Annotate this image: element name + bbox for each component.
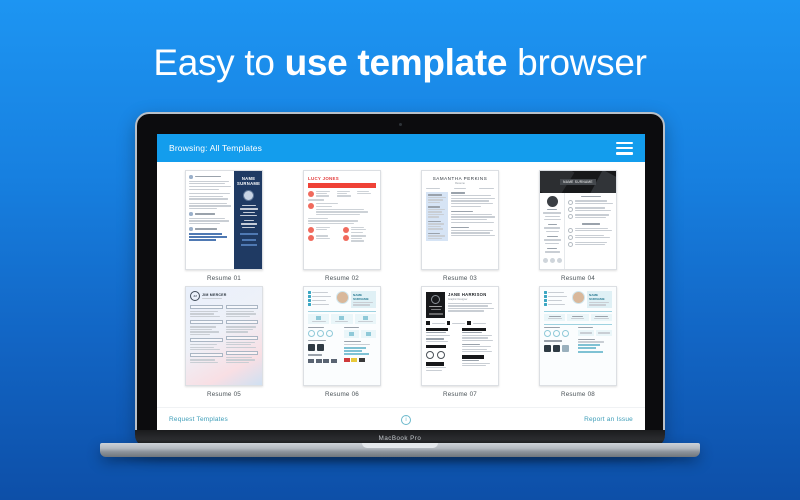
template-caption: Resume 01: [207, 275, 241, 282]
skill-gauge-icon: [544, 330, 551, 337]
contact-icon: [426, 321, 430, 325]
badge-icon: [343, 235, 349, 241]
bullet-icon: [189, 212, 193, 216]
web-icon: [544, 303, 547, 306]
browsing-status-label: Browsing: All Templates: [169, 143, 262, 153]
badge-icon: [308, 191, 314, 197]
contact-icon: [467, 321, 471, 325]
section-box: [226, 305, 259, 309]
flag-icon: [359, 358, 365, 362]
section-box: [190, 338, 223, 342]
template-thumbnail[interactable]: NAME SURNAME: [539, 170, 617, 270]
portrait-avatar-icon: [336, 291, 349, 304]
template-thumbnail[interactable]: SAMANTHA PERKINS Resume: [421, 170, 499, 270]
request-templates-link[interactable]: Request Templates: [169, 416, 228, 423]
template-card-resume-05[interactable]: JM JIM MERCER: [171, 286, 277, 398]
section-box: [190, 305, 223, 309]
section-header: [426, 362, 444, 365]
flag-icon: [344, 358, 350, 362]
badge-icon: [308, 203, 314, 209]
template-caption: Resume 03: [443, 275, 477, 282]
software-icon: [308, 344, 315, 351]
resume-body-left: [186, 171, 234, 269]
laptop-notch: [362, 443, 438, 448]
webcam-icon: [399, 123, 402, 126]
monogram-circle: [431, 295, 440, 304]
skill-gauge-icon: [426, 351, 434, 359]
badge-icon: [308, 235, 314, 241]
laptop-lid: Browsing: All Templates: [135, 112, 665, 447]
software-icon: [544, 345, 551, 352]
template-caption: Resume 02: [325, 275, 359, 282]
report-an-issue-link[interactable]: Report an Issue: [584, 416, 633, 423]
device-model-label: MacBook Pro: [379, 435, 422, 442]
resume-name: NAME SURNAME: [589, 293, 610, 301]
hamburger-menu-icon[interactable]: [616, 142, 633, 155]
info-circle-icon[interactable]: i: [401, 415, 411, 425]
hamburger-bar: [616, 147, 633, 150]
hamburger-bar: [616, 152, 633, 155]
template-grid: NAME SURNAME: [157, 162, 645, 407]
monogram-icon: [426, 292, 445, 318]
skill-gauge-icon: [437, 351, 445, 359]
language-icon: [316, 359, 322, 363]
web-icon: [308, 303, 311, 306]
template-thumbnail[interactable]: NAME SURNAME: [185, 170, 263, 270]
resume-name: LUCY JONES: [308, 176, 376, 181]
contact-icon: [447, 321, 451, 325]
resume-name: NAME SURNAME: [237, 176, 260, 186]
template-card-resume-08[interactable]: NAME SURNAME: [525, 286, 631, 398]
divider: [544, 311, 612, 312]
thumb-icon: [316, 316, 321, 320]
section-box: [226, 320, 259, 324]
divider: [308, 311, 376, 312]
headline-part-2: browser: [507, 42, 646, 83]
page-title: Easy to use template browser: [0, 42, 800, 84]
location-icon: [308, 299, 311, 302]
mail-icon: [308, 295, 311, 298]
macbook-mockup: Browsing: All Templates: [100, 112, 700, 457]
portrait-avatar-icon: [572, 291, 585, 304]
template-thumbnail[interactable]: JM JIM MERCER: [185, 286, 263, 386]
template-row: JM JIM MERCER: [171, 286, 631, 398]
app-screen: Browsing: All Templates: [157, 134, 645, 431]
location-icon: [544, 299, 547, 302]
section-box: [226, 351, 259, 355]
template-card-resume-03[interactable]: SAMANTHA PERKINS Resume: [407, 170, 513, 282]
thumb-icon: [363, 316, 368, 320]
template-caption: Resume 05: [207, 391, 241, 398]
resume-name: NAME SURNAME: [353, 293, 374, 301]
flag-icon: [351, 358, 357, 362]
contact-list: [544, 291, 570, 307]
template-row: NAME SURNAME: [171, 170, 631, 282]
skill-gauge-icon: [317, 330, 324, 337]
resume-name: SAMANTHA PERKINS: [426, 176, 494, 181]
headline-part-1: Easy to: [153, 42, 284, 83]
resume-subtitle: Graphic Designer: [448, 298, 494, 301]
hamburger-bar: [616, 142, 633, 145]
template-card-resume-07[interactable]: JANE HARRISON Graphic Designer: [407, 286, 513, 398]
phone-icon: [308, 291, 311, 294]
app-toolbar: Browsing: All Templates: [157, 134, 645, 162]
resume-banner: [308, 183, 376, 188]
software-icon: [562, 345, 569, 352]
template-thumbnail[interactable]: NAME SURNAME: [539, 286, 617, 386]
phone-icon: [544, 291, 547, 294]
badge-icon: [343, 227, 349, 233]
section-header: [426, 328, 448, 331]
resume-name: JIM MERCER: [202, 293, 227, 297]
resume-name: NAME SURNAME: [560, 179, 596, 185]
section-box: [190, 353, 223, 357]
mail-icon: [544, 295, 547, 298]
language-icon: [331, 359, 337, 363]
resume-sidebar: [426, 192, 448, 241]
section-header: [426, 345, 446, 348]
language-icon: [308, 359, 314, 363]
template-caption: Resume 07: [443, 391, 477, 398]
resume-sidebar: NAME SURNAME: [234, 171, 263, 269]
section-header: [462, 328, 486, 331]
language-icon: [323, 359, 329, 363]
resume-subtitle: Resume: [426, 182, 494, 185]
headline-bold: use template: [285, 42, 508, 83]
template-thumbnail[interactable]: LUCY JONES: [303, 170, 381, 270]
template-thumbnail[interactable]: NAME SURNAME: [303, 286, 381, 386]
laptop-base: [100, 443, 700, 457]
template-card-resume-01[interactable]: NAME SURNAME: [171, 170, 277, 282]
monogram-icon: JM: [190, 291, 200, 301]
section-box: [226, 336, 259, 340]
software-icon: [553, 345, 560, 352]
thumb-icon: [349, 332, 354, 336]
software-icon: [317, 344, 324, 351]
portrait-avatar-icon: [243, 190, 254, 201]
bullet-icon: [189, 175, 193, 179]
portrait-avatar-icon: [547, 196, 558, 207]
thumb-icon: [339, 316, 344, 320]
section-box: [190, 320, 223, 324]
contact-list: [308, 291, 334, 307]
template-thumbnail[interactable]: JANE HARRISON Graphic Designer: [421, 286, 499, 386]
template-caption: Resume 06: [325, 391, 359, 398]
template-card-resume-04[interactable]: NAME SURNAME: [525, 170, 631, 282]
resume-name: JANE HARRISON: [448, 292, 494, 297]
template-card-resume-02[interactable]: LUCY JONES: [289, 170, 395, 282]
template-caption: Resume 08: [561, 391, 595, 398]
bullet-icon: [189, 227, 193, 231]
template-caption: Resume 04: [561, 275, 595, 282]
section-header: [462, 355, 484, 358]
skill-gauge-icon: [326, 330, 333, 337]
skill-gauge-icon: [562, 330, 569, 337]
resume-banner: NAME SURNAME: [540, 171, 616, 193]
resume-sidebar: [540, 193, 565, 270]
resume-body-right: [565, 193, 616, 270]
app-footer: Request Templates i Report an Issue: [157, 407, 645, 431]
thumb-icon: [366, 332, 371, 336]
divider: [544, 324, 612, 325]
badge-icon: [308, 227, 314, 233]
resume-body-right: [451, 192, 495, 241]
skill-gauge-icon: [308, 330, 315, 337]
template-card-resume-06[interactable]: NAME SURNAME: [289, 286, 395, 398]
skill-gauge-icon: [553, 330, 560, 337]
